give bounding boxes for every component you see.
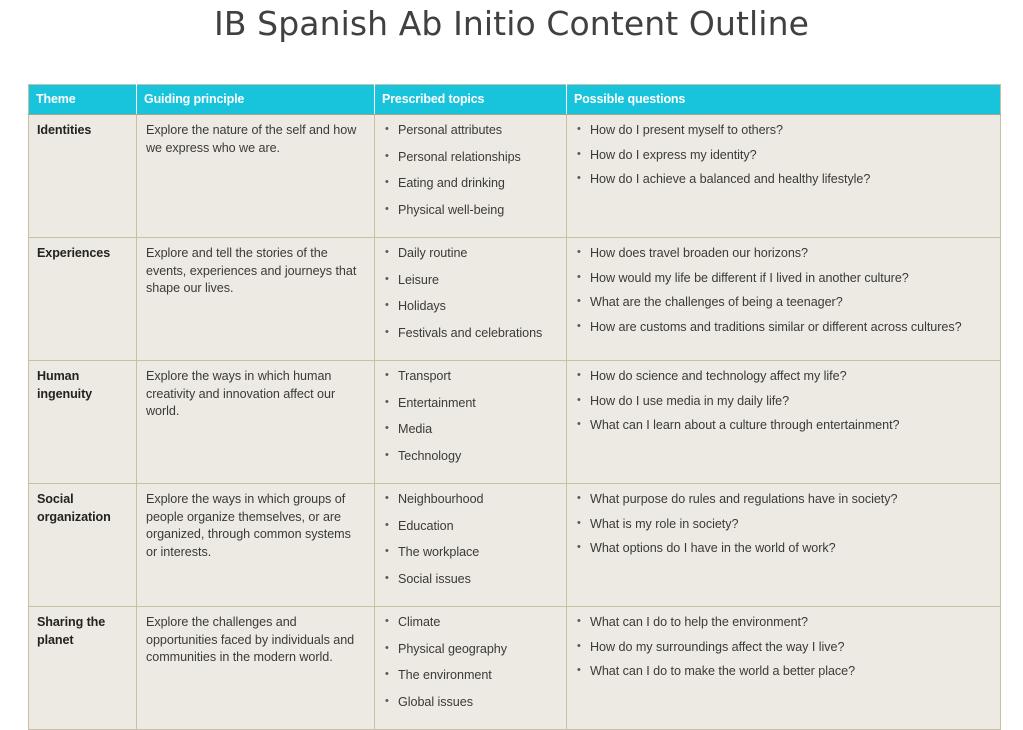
table-row: Identities Explore the nature of the sel…	[29, 115, 1001, 238]
list-item: How do science and technology affect my …	[576, 368, 991, 386]
list-item: How are customs and traditions similar o…	[576, 319, 991, 337]
list-item: Transport	[384, 368, 557, 386]
list-item: What purpose do rules and regulations ha…	[576, 491, 991, 509]
cell-possible-questions: How do I present myself to others? How d…	[567, 115, 1001, 238]
list-item: How do my surroundings affect the way I …	[576, 639, 991, 657]
prescribed-topics-list: Daily routine Leisure Holidays Festivals…	[384, 245, 557, 342]
column-header-possible-questions: Possible questions	[567, 85, 1001, 115]
list-item: What can I learn about a culture through…	[576, 417, 991, 435]
list-item: Physical geography	[384, 641, 557, 659]
cell-prescribed-topics: Climate Physical geography The environme…	[375, 607, 567, 730]
list-item: What can I do to help the environment?	[576, 614, 991, 632]
cell-prescribed-topics: Transport Entertainment Media Technology	[375, 361, 567, 484]
cell-possible-questions: How do science and technology affect my …	[567, 361, 1001, 484]
cell-possible-questions: How does travel broaden our horizons? Ho…	[567, 238, 1001, 361]
possible-questions-list: How do I present myself to others? How d…	[576, 122, 991, 189]
list-item: What can I do to make the world a better…	[576, 663, 991, 681]
cell-theme: Experiences	[29, 238, 137, 361]
list-item: Daily routine	[384, 245, 557, 263]
list-item: Festivals and celebrations	[384, 325, 557, 343]
cell-theme: Human ingenuity	[29, 361, 137, 484]
prescribed-topics-list: Transport Entertainment Media Technology	[384, 368, 557, 465]
content-outline-table-wrapper: Theme Guiding principle Prescribed topic…	[28, 84, 1000, 730]
cell-guiding-principle: Explore the ways in which groups of peop…	[137, 484, 375, 607]
table-row: Human ingenuity Explore the ways in whic…	[29, 361, 1001, 484]
list-item: How does travel broaden our horizons?	[576, 245, 991, 263]
table-header: Theme Guiding principle Prescribed topic…	[29, 85, 1001, 115]
cell-guiding-principle: Explore the challenges and opportunities…	[137, 607, 375, 730]
list-item: Climate	[384, 614, 557, 632]
list-item: Physical well-being	[384, 202, 557, 220]
cell-guiding-principle: Explore the nature of the self and how w…	[137, 115, 375, 238]
cell-prescribed-topics: Daily routine Leisure Holidays Festivals…	[375, 238, 567, 361]
cell-possible-questions: What can I do to help the environment? H…	[567, 607, 1001, 730]
cell-theme: Identities	[29, 115, 137, 238]
column-header-theme: Theme	[29, 85, 137, 115]
list-item: What are the challenges of being a teena…	[576, 294, 991, 312]
list-item: Global issues	[384, 694, 557, 712]
list-item: Media	[384, 421, 557, 439]
cell-guiding-principle: Explore the ways in which human creativi…	[137, 361, 375, 484]
cell-prescribed-topics: Personal attributes Personal relationshi…	[375, 115, 567, 238]
list-item: The environment	[384, 667, 557, 685]
table-row: Social organization Explore the ways in …	[29, 484, 1001, 607]
list-item: How do I present myself to others?	[576, 122, 991, 140]
list-item: Leisure	[384, 272, 557, 290]
page-root: IB Spanish Ab Initio Content Outline The…	[0, 0, 1023, 647]
prescribed-topics-list: Personal attributes Personal relationshi…	[384, 122, 557, 219]
list-item: How would my life be different if I live…	[576, 270, 991, 288]
list-item: How do I use media in my daily life?	[576, 393, 991, 411]
column-header-prescribed-topics: Prescribed topics	[375, 85, 567, 115]
possible-questions-list: How does travel broaden our horizons? Ho…	[576, 245, 991, 336]
cell-theme: Social organization	[29, 484, 137, 607]
prescribed-topics-list: Neighbourhood Education The workplace So…	[384, 491, 557, 588]
page-title: IB Spanish Ab Initio Content Outline	[0, 2, 1023, 46]
list-item: Personal relationships	[384, 149, 557, 167]
list-item: How do I achieve a balanced and healthy …	[576, 171, 991, 189]
table-row: Sharing the planet Explore the challenge…	[29, 607, 1001, 730]
list-item: Holidays	[384, 298, 557, 316]
cell-guiding-principle: Explore and tell the stories of the even…	[137, 238, 375, 361]
list-item: Technology	[384, 448, 557, 466]
list-item: How do I express my identity?	[576, 147, 991, 165]
cell-prescribed-topics: Neighbourhood Education The workplace So…	[375, 484, 567, 607]
list-item: Social issues	[384, 571, 557, 589]
list-item: Entertainment	[384, 395, 557, 413]
table-header-row: Theme Guiding principle Prescribed topic…	[29, 85, 1001, 115]
table-row: Experiences Explore and tell the stories…	[29, 238, 1001, 361]
list-item: Education	[384, 518, 557, 536]
possible-questions-list: How do science and technology affect my …	[576, 368, 991, 435]
column-header-guiding-principle: Guiding principle	[137, 85, 375, 115]
list-item: What options do I have in the world of w…	[576, 540, 991, 558]
cell-theme: Sharing the planet	[29, 607, 137, 730]
list-item: Neighbourhood	[384, 491, 557, 509]
list-item: Eating and drinking	[384, 175, 557, 193]
possible-questions-list: What purpose do rules and regulations ha…	[576, 491, 991, 558]
list-item: What is my role in society?	[576, 516, 991, 534]
table-body: Identities Explore the nature of the sel…	[29, 115, 1001, 730]
content-outline-table: Theme Guiding principle Prescribed topic…	[28, 84, 1001, 730]
cell-possible-questions: What purpose do rules and regulations ha…	[567, 484, 1001, 607]
prescribed-topics-list: Climate Physical geography The environme…	[384, 614, 557, 711]
list-item: The workplace	[384, 544, 557, 562]
list-item: Personal attributes	[384, 122, 557, 140]
possible-questions-list: What can I do to help the environment? H…	[576, 614, 991, 681]
